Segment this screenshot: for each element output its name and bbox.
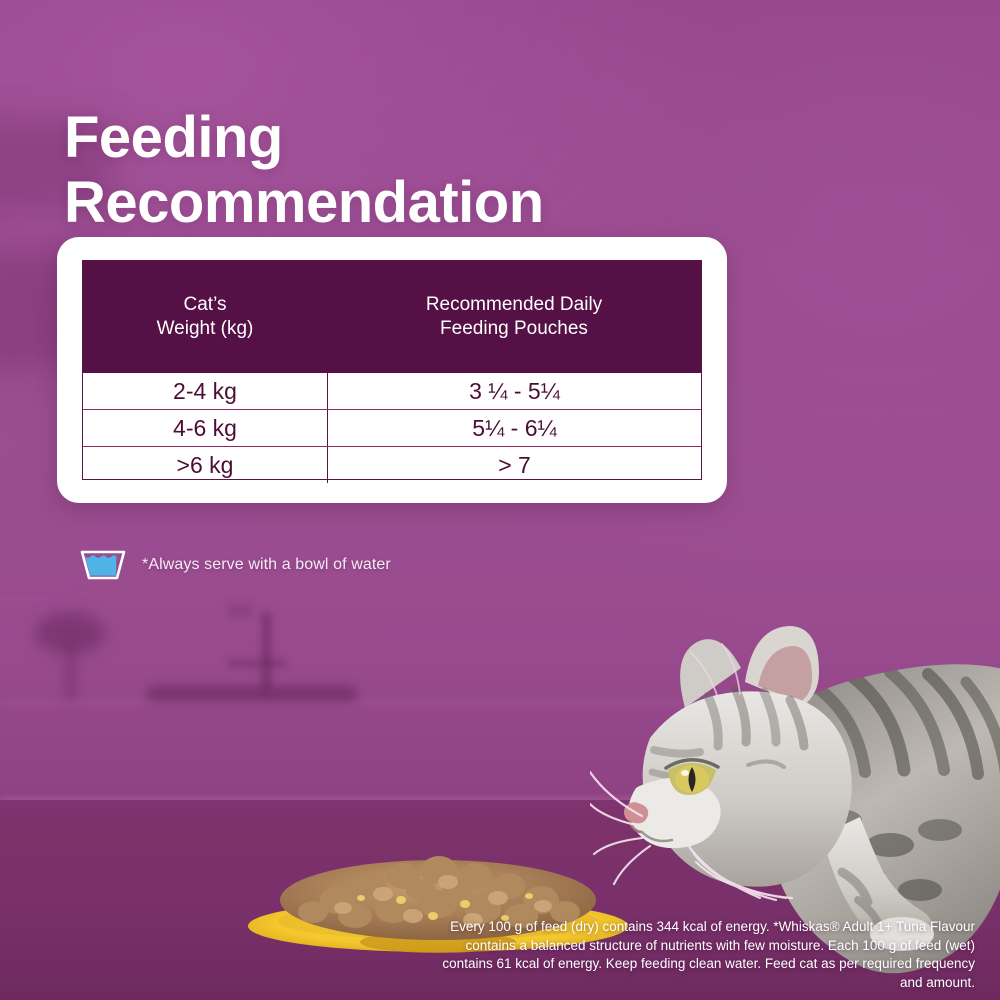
table-cell-weight: 2-4 kg (83, 373, 328, 409)
table-row: 4-6 kg 5¼ - 6¼ (83, 409, 701, 446)
table-header-row: Cat’s Weight (kg) Recommended Daily Feed… (83, 261, 701, 373)
page-title-line1: Feeding (64, 105, 283, 170)
table-cell-pouches: > 7 (328, 447, 701, 483)
table-header-cat-weight: Cat’s Weight (kg) (83, 261, 327, 373)
table-header-daily-pouches-line2: Feeding Pouches (426, 317, 602, 341)
page-title-line2: Recommendation (64, 170, 684, 236)
table-cell-pouches: 3 ¼ - 5¼ (328, 373, 701, 409)
water-bowl-icon (78, 548, 128, 581)
table-cell-pouches: 5¼ - 6¼ (328, 410, 701, 446)
table-header-cat-weight-line1: Cat’s (157, 293, 254, 317)
table-cell-weight: >6 kg (83, 447, 328, 483)
table-row: >6 kg > 7 (83, 446, 701, 483)
footer-disclaimer: Every 100 g of feed (dry) contains 344 k… (430, 918, 975, 993)
background-faucet-icon (262, 612, 271, 692)
water-note-text: *Always serve with a bowl of water (142, 556, 391, 574)
background-faucet-arm (228, 660, 286, 667)
table-header-cat-weight-line2: Weight (kg) (157, 317, 254, 341)
table-header-daily-pouches-line1: Recommended Daily (426, 293, 602, 317)
page-title: Feeding Recommendation (64, 105, 684, 236)
feeding-table-card: Cat’s Weight (kg) Recommended Daily Feed… (57, 237, 727, 503)
table-row: 2-4 kg 3 ¼ - 5¼ (83, 373, 701, 409)
feeding-recommendation-banner: Feeding Recommendation Cat’s Weight (kg)… (0, 0, 1000, 1000)
water-note: *Always serve with a bowl of water (78, 548, 391, 581)
feeding-table: Cat’s Weight (kg) Recommended Daily Feed… (82, 260, 702, 480)
table-body: 2-4 kg 3 ¼ - 5¼ 4-6 kg 5¼ - 6¼ >6 kg > 7 (83, 373, 701, 483)
table-header-daily-pouches: Recommended Daily Feeding Pouches (327, 261, 701, 373)
background-faucet-top (228, 606, 252, 616)
background-plant-stem (66, 640, 75, 700)
background-sink-icon (148, 686, 356, 702)
table-cell-weight: 4-6 kg (83, 410, 328, 446)
